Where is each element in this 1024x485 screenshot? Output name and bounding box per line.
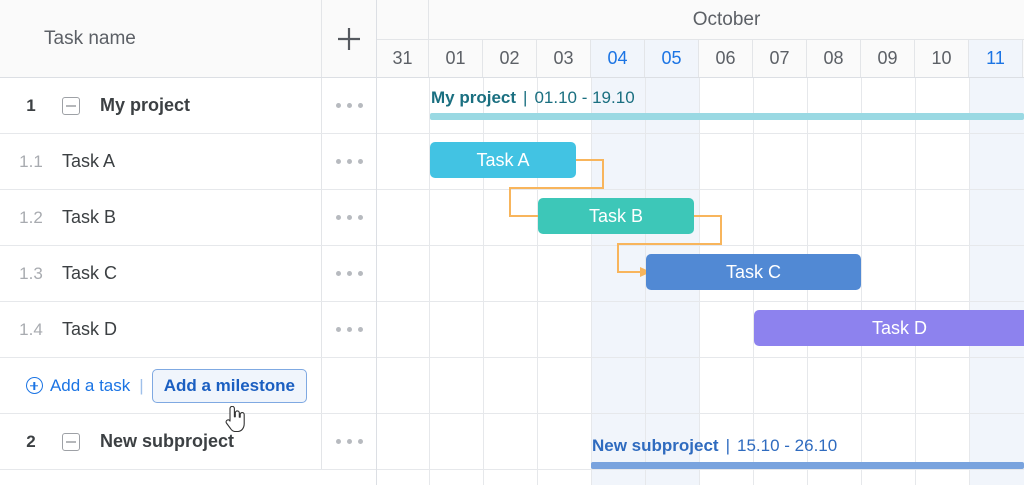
minus-square-icon[interactable] — [62, 97, 80, 115]
table-row[interactable]: 2 New subproject — [0, 414, 376, 470]
summary-bar-my-project[interactable] — [430, 113, 1024, 120]
summary-range: 15.10 - 26.10 — [737, 436, 837, 455]
summary-separator: | — [523, 88, 527, 107]
circle-plus-icon — [26, 377, 43, 394]
row-label: Task A — [62, 151, 115, 172]
day-cell-11[interactable]: 11 — [969, 40, 1023, 77]
summary-bar-new-subproject[interactable] — [591, 462, 1024, 469]
table-row-content[interactable]: 1.2 Task B — [0, 190, 322, 245]
ellipsis-icon — [336, 159, 363, 164]
day-cell-09[interactable]: 09 — [861, 40, 915, 77]
day-cell-31[interactable]: 31 — [377, 40, 429, 77]
minus-square-icon[interactable] — [62, 433, 80, 451]
gantt-bar-task-b[interactable]: Task B — [538, 198, 694, 234]
table-row[interactable]: 1 My project — [0, 78, 376, 134]
row-menu-button[interactable] — [322, 414, 376, 469]
add-row: Add a task | Add a milestone — [0, 358, 376, 414]
day-cell-07[interactable]: 07 — [753, 40, 807, 77]
day-cell-06[interactable]: 06 — [699, 40, 753, 77]
add-task-label: Add a task — [50, 376, 130, 396]
add-row-content: Add a task | Add a milestone — [0, 358, 322, 413]
task-table-pane: Task name 1 My project 1.1 Ta — [0, 0, 377, 485]
day-cell-02[interactable]: 02 — [483, 40, 537, 77]
day-cell-03[interactable]: 03 — [537, 40, 591, 77]
task-table-header: Task name — [0, 0, 376, 78]
day-cell-10[interactable]: 10 — [915, 40, 969, 77]
column-header-task-name: Task name — [0, 0, 322, 77]
table-row[interactable]: 1.3 Task C — [0, 246, 376, 302]
gantt-bar-task-c[interactable]: Task C — [646, 254, 861, 290]
table-row-content[interactable]: 1.4 Task D — [0, 302, 322, 357]
ellipsis-icon — [336, 327, 363, 332]
add-row-separator: | — [139, 376, 143, 396]
row-wbs: 1.2 — [0, 208, 62, 228]
summary-range: 01.10 - 19.10 — [534, 88, 634, 107]
row-wbs: 1.1 — [0, 152, 62, 172]
gantt-bar-label: Task B — [589, 206, 643, 227]
day-cell-01[interactable]: 01 — [429, 40, 483, 77]
month-label: October — [429, 0, 1024, 40]
row-menu-button[interactable] — [322, 78, 376, 133]
day-cell-05[interactable]: 05 — [645, 40, 699, 77]
table-row-content[interactable]: 1.3 Task C — [0, 246, 322, 301]
gantt-bar-label: Task D — [872, 318, 927, 339]
gantt-bar-task-a[interactable]: Task A — [430, 142, 576, 178]
summary-label-my-project: My project|01.10 - 19.10 — [431, 88, 635, 108]
day-cell-04[interactable]: 04 — [591, 40, 645, 77]
table-row-content[interactable]: 1.1 Task A — [0, 134, 322, 189]
row-menu-button[interactable] — [322, 246, 376, 301]
summary-name: My project — [431, 88, 516, 107]
gantt-app: Task name 1 My project 1.1 Ta — [0, 0, 1024, 485]
ellipsis-icon — [336, 271, 363, 276]
day-cell-08[interactable]: 08 — [807, 40, 861, 77]
table-row[interactable]: 1.2 Task B — [0, 190, 376, 246]
timeline-day-header: 31 01 02 03 04 05 06 07 08 09 10 11 — [377, 40, 1024, 78]
table-row-content[interactable]: 1 My project — [0, 78, 322, 133]
summary-label-new-subproject: New subproject|15.10 - 26.10 — [592, 436, 837, 456]
ellipsis-icon — [336, 103, 363, 108]
add-row-menu-spacer — [322, 358, 376, 413]
timeline-body: My project|01.10 - 19.10 Task A Task B T… — [377, 78, 1024, 485]
row-label: Task D — [62, 319, 117, 340]
gantt-bar-task-d[interactable]: Task D — [754, 310, 1024, 346]
table-row[interactable]: 1.4 Task D — [0, 302, 376, 358]
plus-icon — [334, 24, 364, 54]
summary-separator: | — [726, 436, 730, 455]
row-label: New subproject — [100, 431, 234, 452]
row-label: Task C — [62, 263, 117, 284]
row-label: Task B — [62, 207, 116, 228]
table-row[interactable]: 1.1 Task A — [0, 134, 376, 190]
row-menu-button[interactable] — [322, 134, 376, 189]
ellipsis-icon — [336, 215, 363, 220]
add-column-button[interactable] — [322, 0, 376, 77]
row-menu-button[interactable] — [322, 190, 376, 245]
gantt-bar-label: Task C — [726, 262, 781, 283]
row-wbs: 1.4 — [0, 320, 62, 340]
month-spacer-cell — [377, 0, 429, 40]
table-row-content[interactable]: 2 New subproject — [0, 414, 322, 469]
row-wbs: 2 — [0, 432, 62, 452]
summary-name: New subproject — [592, 436, 719, 455]
gantt-bar-label: Task A — [476, 150, 529, 171]
ellipsis-icon — [336, 439, 363, 444]
row-menu-button[interactable] — [322, 302, 376, 357]
add-milestone-button[interactable]: Add a milestone — [152, 369, 307, 403]
row-label: My project — [100, 95, 190, 116]
timeline-month-header: October — [377, 0, 1024, 40]
row-wbs: 1.3 — [0, 264, 62, 284]
row-wbs: 1 — [0, 96, 62, 116]
timeline-pane: October 31 01 02 03 04 05 06 07 08 09 10… — [377, 0, 1024, 485]
add-task-button[interactable]: Add a task — [26, 376, 130, 396]
